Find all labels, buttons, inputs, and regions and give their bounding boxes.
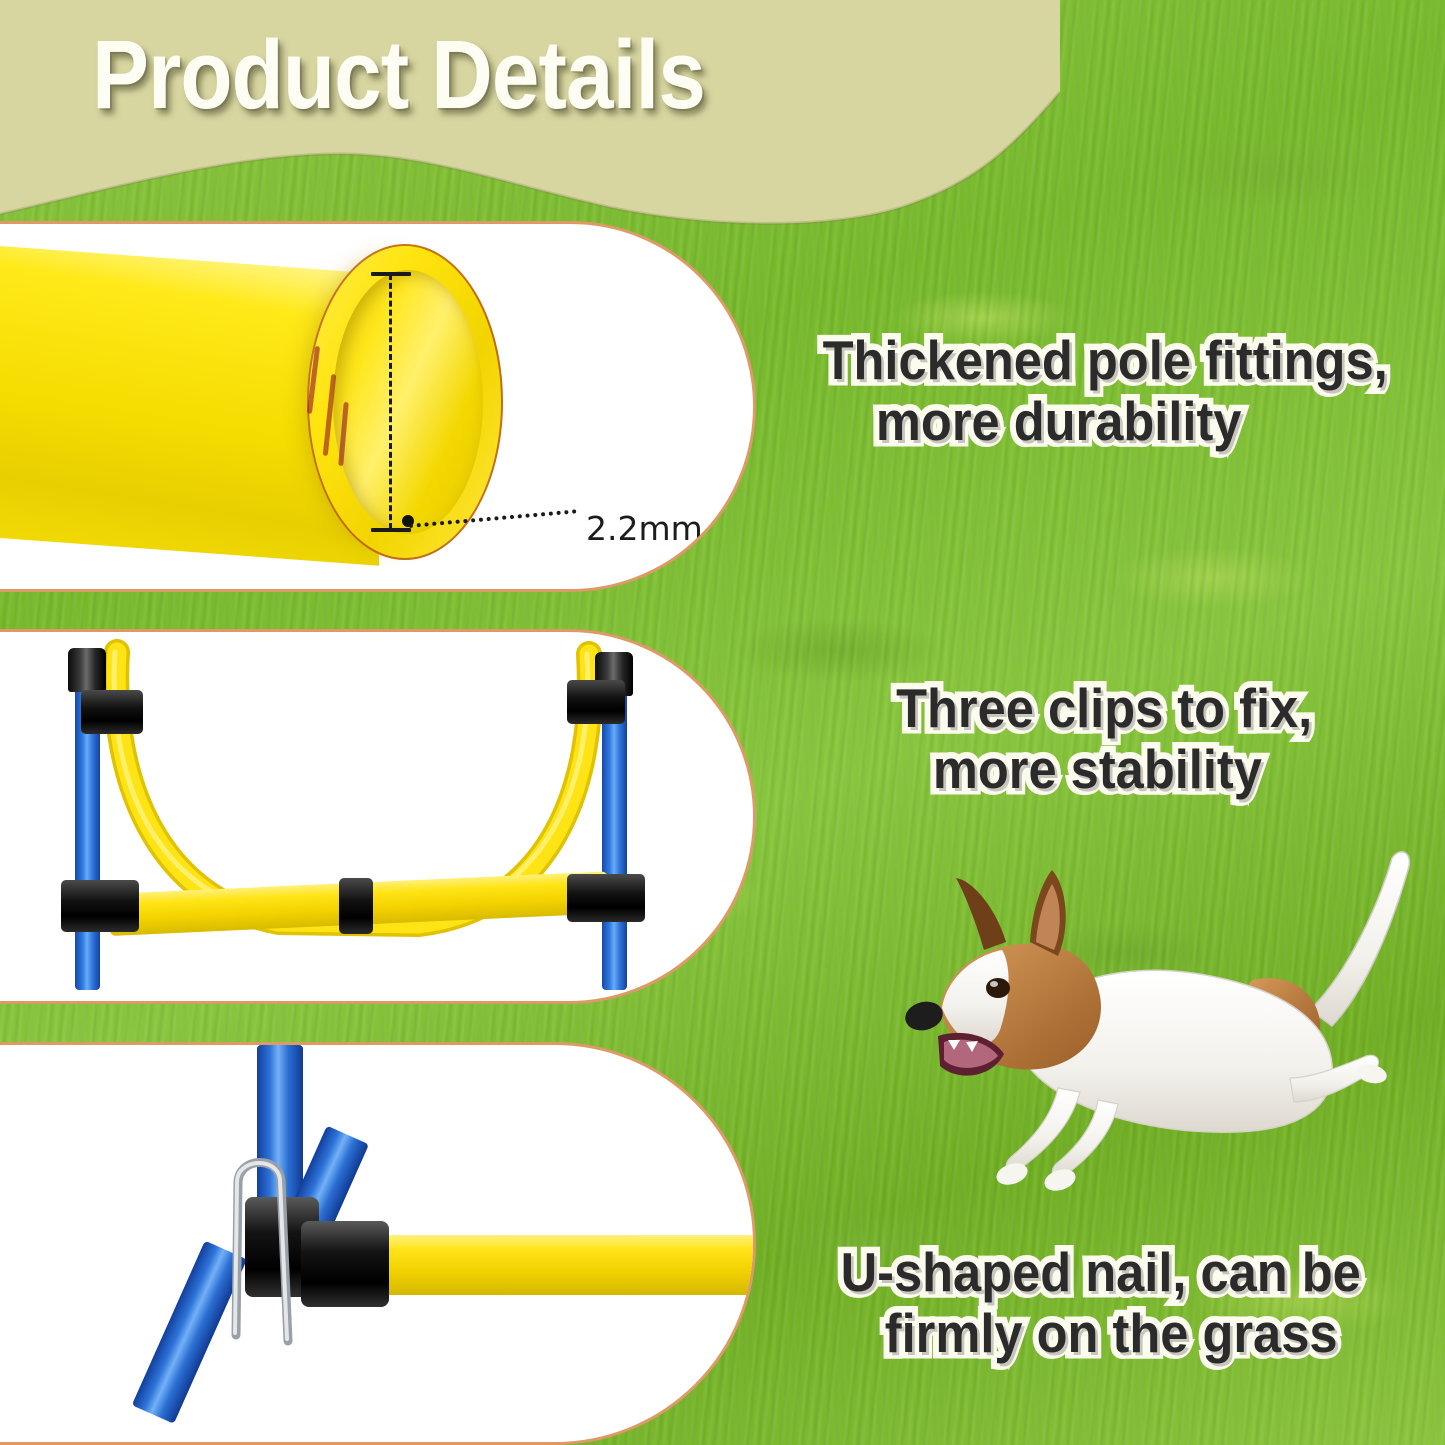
left-pole-cap [68, 648, 106, 692]
u-shaped-nail-svg [0, 1045, 756, 1445]
pipe-rim-inner [333, 270, 483, 534]
feature-nail: U-shaped nail, can be firmly on the gras… [835, 1242, 1366, 1365]
dog-photo [880, 830, 1420, 1250]
feature-nail-line2: firmly on the grass [879, 1303, 1366, 1364]
page-title: Product Details [92, 26, 705, 123]
feature-nail-line1: U-shaped nail, can be [835, 1242, 1366, 1303]
feature-durability: Thickened pole fittings, more durability [817, 330, 1393, 453]
crossbar-right-clip [567, 874, 645, 922]
crossbar-left-clip [61, 880, 139, 932]
dimension-cap-bottom [371, 528, 411, 532]
panel-pipe-card: 27mm 2.2mm [0, 221, 756, 592]
flexible-tube-arc-svg [0, 632, 756, 1004]
thickness-label: 2.2mm [586, 509, 703, 548]
header-banner: Product Details [0, 0, 1060, 230]
feature-durability-line2: more durability [870, 391, 1393, 452]
product-details-infographic: Product Details 27mm 2.2mm [0, 0, 1445, 1445]
feature-durability-line1: Thickened pole fittings, [817, 330, 1393, 391]
panel-hurdle-card [0, 629, 756, 1004]
pipe-illustration: 27mm 2.2mm [0, 224, 753, 589]
diameter-dimension-line [389, 274, 392, 529]
running-dog-illustration [880, 830, 1420, 1250]
feature-stability-line2: more stability [927, 739, 1317, 800]
u-nail-illustration [0, 1045, 753, 1442]
panel-u-nail-card [0, 1042, 756, 1445]
left-top-clip [81, 690, 143, 734]
crossbar-middle-clip [339, 878, 373, 934]
feature-stability: Three clips to fix, more stability [891, 678, 1318, 801]
right-top-clip [567, 680, 625, 724]
feature-stability-line1: Three clips to fix, [891, 678, 1318, 739]
hurdle-illustration [0, 632, 756, 1004]
